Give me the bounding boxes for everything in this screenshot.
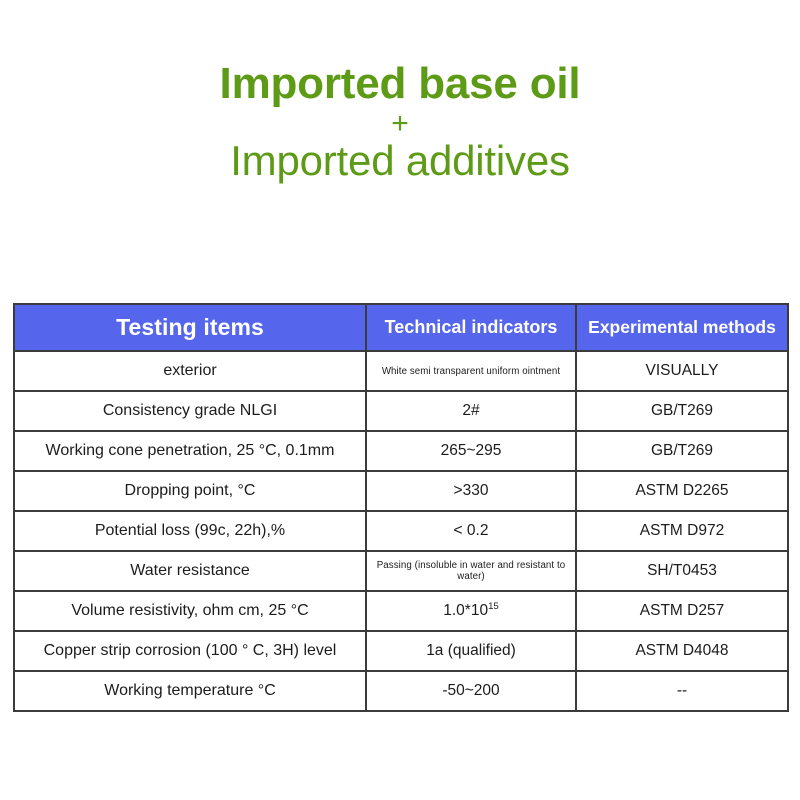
cell-testing-item: Copper strip corrosion (100 ° C, 3H) lev… [14, 631, 366, 671]
cell-technical-indicator: 265~295 [366, 431, 576, 471]
cell-technical-indicator: 2# [366, 391, 576, 431]
heading-primary-line: Imported base oil [0, 62, 800, 107]
table-row: exteriorWhite semi transparent uniform o… [14, 351, 788, 391]
cell-experimental-method: ASTM D972 [576, 511, 788, 551]
spec-table-container: Testing items Technical indicators Exper… [13, 303, 787, 712]
heading-secondary-line: Imported additives [0, 140, 800, 183]
cell-experimental-method: GB/T269 [576, 391, 788, 431]
column-header-testing-items: Testing items [14, 304, 366, 351]
page-heading: Imported base oil + Imported additives [0, 0, 800, 183]
cell-testing-item: exterior [14, 351, 366, 391]
cell-experimental-method: SH/T0453 [576, 551, 788, 591]
column-header-experimental-methods: Experimental methods [576, 304, 788, 351]
column-header-technical-indicators: Technical indicators [366, 304, 576, 351]
plus-symbol: + [0, 109, 800, 139]
cell-testing-item: Working temperature °C [14, 671, 366, 711]
cell-testing-item: Consistency grade NLGI [14, 391, 366, 431]
cell-technical-indicator: White semi transparent uniform ointment [366, 351, 576, 391]
cell-testing-item: Water resistance [14, 551, 366, 591]
cell-technical-indicator: >330 [366, 471, 576, 511]
table-row: Water resistancePassing (insoluble in wa… [14, 551, 788, 591]
cell-experimental-method: GB/T269 [576, 431, 788, 471]
cell-testing-item: Working cone penetration, 25 °C, 0.1mm [14, 431, 366, 471]
cell-experimental-method: VISUALLY [576, 351, 788, 391]
table-header: Testing items Technical indicators Exper… [14, 304, 788, 351]
table-row: Copper strip corrosion (100 ° C, 3H) lev… [14, 631, 788, 671]
table-row: Volume resistivity, ohm cm, 25 °C1.0*101… [14, 591, 788, 631]
cell-technical-indicator: 1a (qualified) [366, 631, 576, 671]
cell-technical-indicator: -50~200 [366, 671, 576, 711]
table-row: Working temperature °C-50~200-- [14, 671, 788, 711]
cell-experimental-method: -- [576, 671, 788, 711]
cell-technical-indicator: Passing (insoluble in water and resistan… [366, 551, 576, 591]
cell-experimental-method: ASTM D4048 [576, 631, 788, 671]
table-row: Working cone penetration, 25 °C, 0.1mm26… [14, 431, 788, 471]
table-row: Potential loss (99c, 22h),%< 0.2ASTM D97… [14, 511, 788, 551]
cell-technical-indicator: < 0.2 [366, 511, 576, 551]
cell-technical-indicator: 1.0*1015 [366, 591, 576, 631]
exponent-superscript: 15 [488, 601, 499, 612]
cell-testing-item: Volume resistivity, ohm cm, 25 °C [14, 591, 366, 631]
table-body: exteriorWhite semi transparent uniform o… [14, 351, 788, 711]
cell-testing-item: Potential loss (99c, 22h),% [14, 511, 366, 551]
table-row: Dropping point, °C>330ASTM D2265 [14, 471, 788, 511]
table-header-row: Testing items Technical indicators Exper… [14, 304, 788, 351]
cell-experimental-method: ASTM D2265 [576, 471, 788, 511]
table-row: Consistency grade NLGI2#GB/T269 [14, 391, 788, 431]
cell-testing-item: Dropping point, °C [14, 471, 366, 511]
specification-table: Testing items Technical indicators Exper… [13, 303, 789, 712]
cell-experimental-method: ASTM D257 [576, 591, 788, 631]
